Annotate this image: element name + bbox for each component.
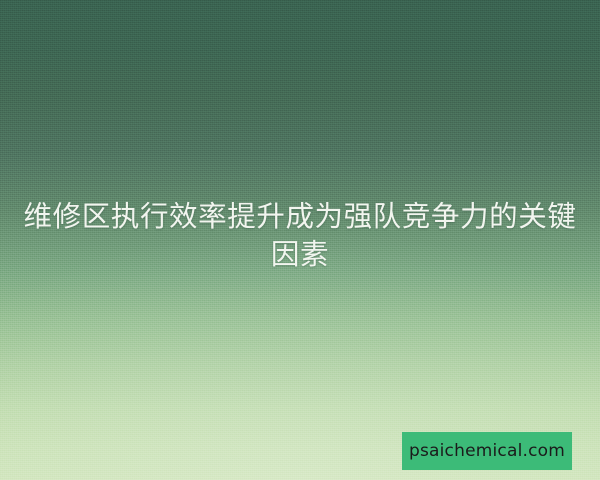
promo-banner: 维修区执行效率提升成为强队竞争力的关键因素 psaichemical.com: [0, 0, 600, 480]
site-watermark-label: psaichemical.com: [409, 443, 565, 460]
site-watermark-badge: psaichemical.com: [402, 432, 572, 470]
banner-headline: 维修区执行效率提升成为强队竞争力的关键因素: [22, 198, 578, 274]
